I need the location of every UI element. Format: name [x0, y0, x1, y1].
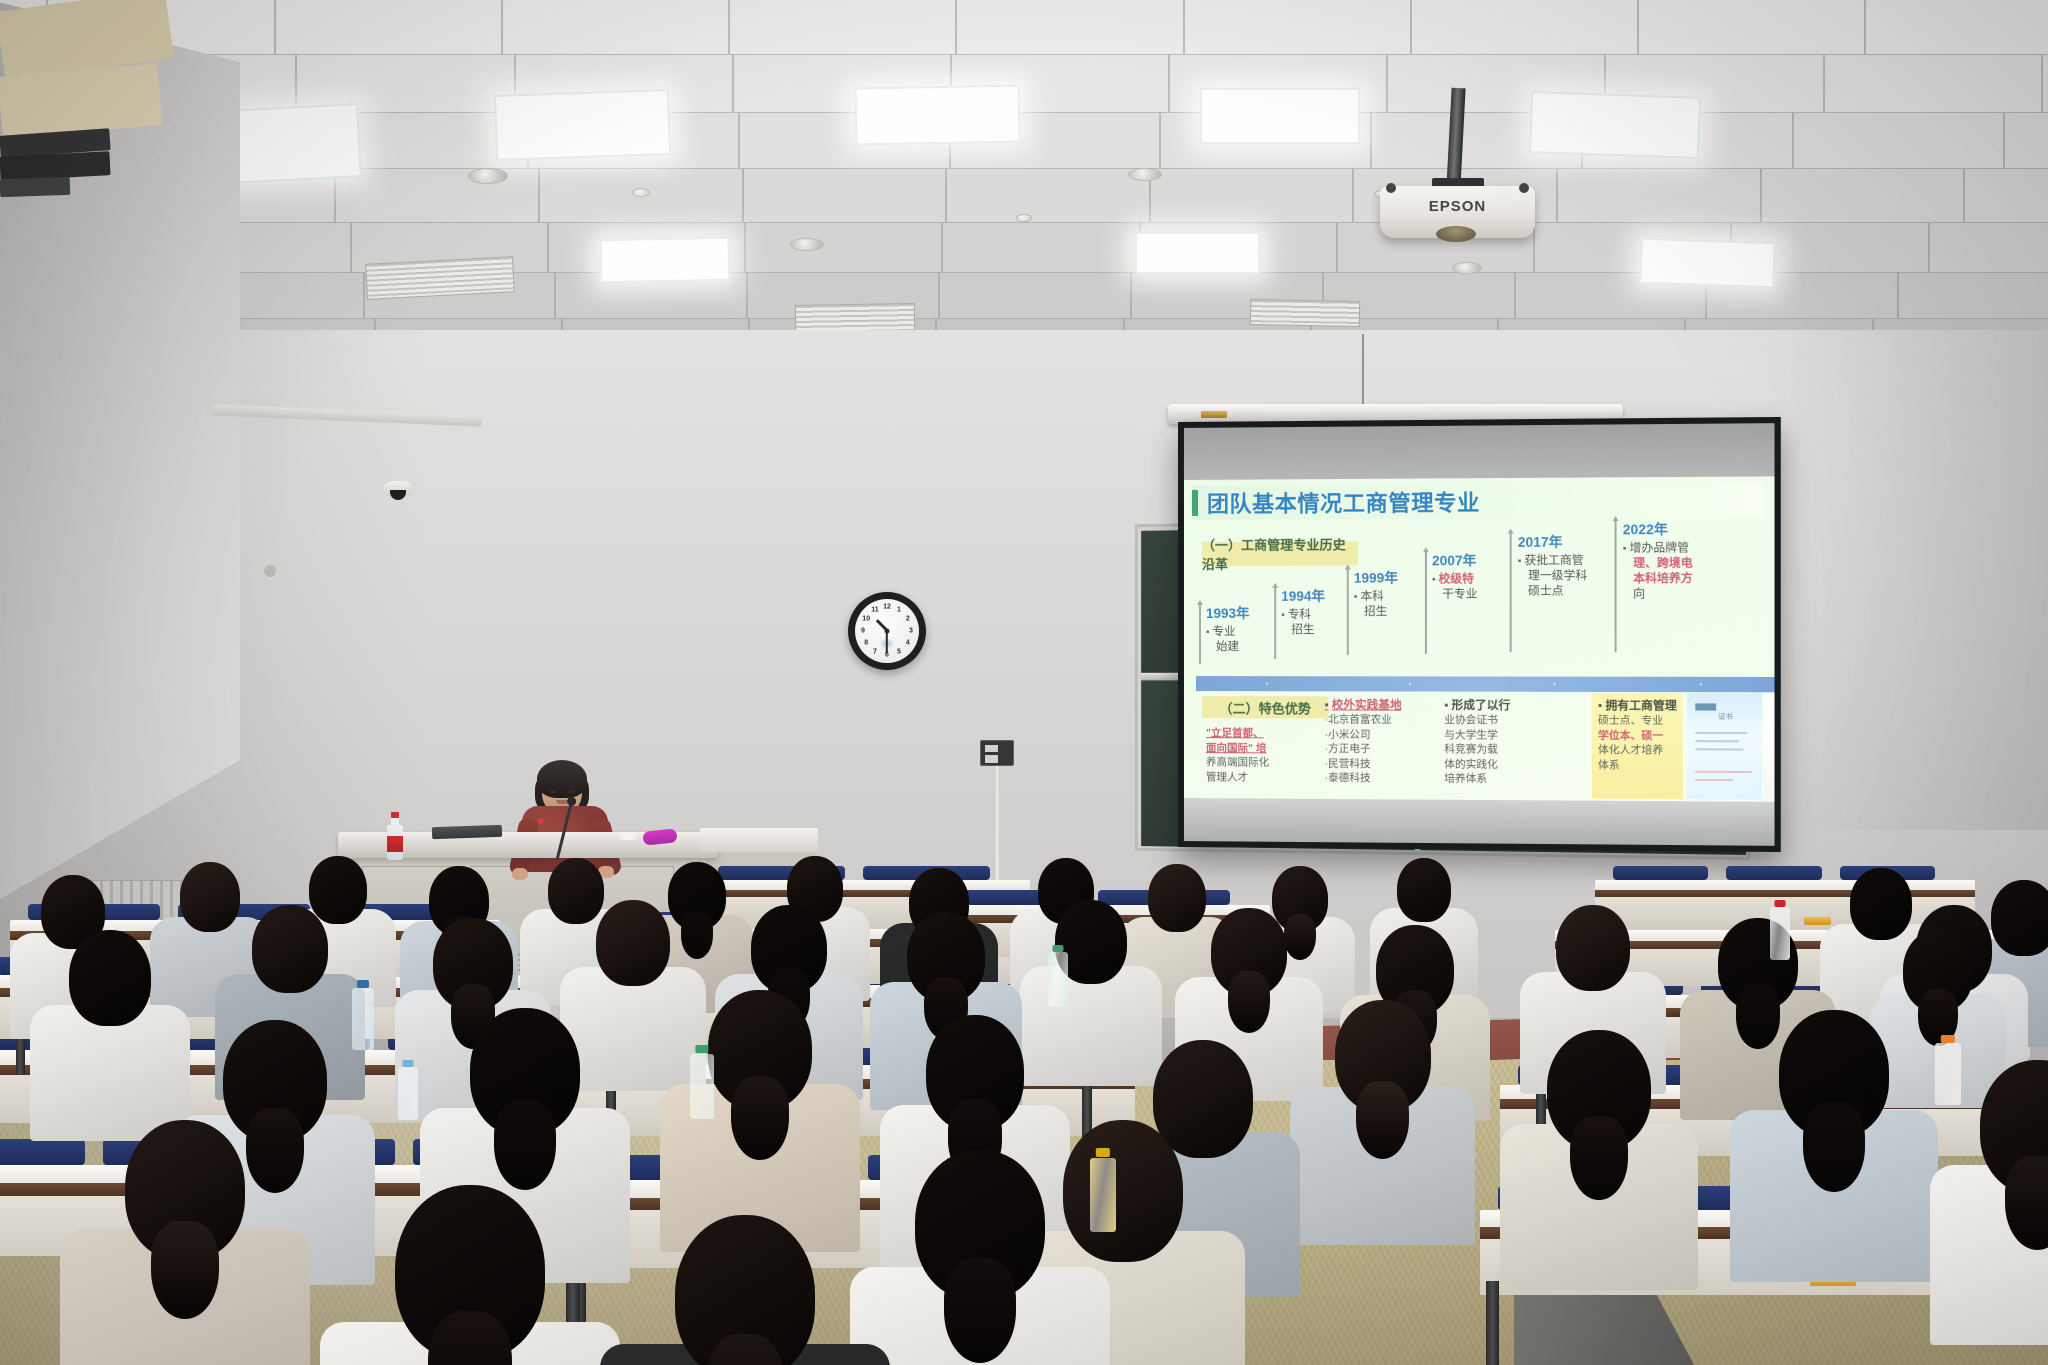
timeline-line: 本科培养方 — [1623, 572, 1693, 587]
bottle-cap — [403, 1060, 414, 1067]
student-head — [69, 930, 151, 1026]
list-item — [1930, 1060, 2048, 1365]
timeline-line: 始建 — [1206, 640, 1250, 655]
advantage-column-4: 拥有工商管理 硕士点、专业 学位本、硕一 体化人才培养 体系 — [1598, 697, 1677, 773]
ceiling-speaker — [790, 238, 824, 251]
student-ponytail — [1228, 971, 1271, 1033]
ceiling-tile — [1761, 168, 1965, 224]
slide-section-2-tag: （二）特色优势 — [1202, 696, 1329, 718]
column-heading: 校外实践基地 — [1325, 696, 1402, 712]
desk-paper — [0, 177, 70, 197]
clock-numeral: 12 — [883, 604, 891, 611]
ceiling-tile — [275, 0, 502, 56]
ceiling-projector: EPSON — [1380, 186, 1535, 238]
student-ponytail — [494, 1100, 556, 1190]
timeline-line: 专科 — [1281, 608, 1325, 623]
timeline-item-2017: 2017年 获批工商管 理一级学科 硕士点 — [1518, 530, 1587, 599]
timeline-line: 向 — [1623, 587, 1693, 602]
ceiling-tile — [1865, 0, 2048, 56]
ceiling-tile — [1638, 0, 1865, 56]
column-line: 与大学生学 — [1444, 727, 1510, 742]
ceiling-tile — [729, 0, 956, 56]
ceiling-light-panel — [1135, 232, 1260, 274]
clock-numeral: 8 — [864, 640, 868, 647]
bottle-body — [398, 1067, 418, 1120]
column-line: ·北京首富农业 — [1325, 712, 1402, 727]
timeline-line: 招生 — [1354, 605, 1398, 620]
list-item — [320, 1185, 620, 1365]
timeline-year: 2017年 — [1518, 530, 1587, 551]
divider-mark: • — [1265, 679, 1268, 688]
slide-section-1-tag: （一）工商管理专业历史沿革 — [1202, 541, 1358, 566]
timeline-year: 2022年 — [1623, 518, 1693, 539]
column-line: 体化人才培养 — [1598, 743, 1677, 758]
ceiling-air-vent — [1250, 299, 1360, 327]
timeline-item-2007: 2007年 校级特 干专业 — [1432, 549, 1477, 603]
timeline-line: 招生 — [1281, 623, 1325, 638]
timeline-line: 增办品牌管 — [1623, 541, 1693, 557]
bottle-cap — [695, 1045, 708, 1053]
timeline-line: 专业 — [1206, 625, 1250, 640]
column-line: 养高端国际化 — [1206, 755, 1269, 770]
bottle-body — [1048, 952, 1068, 1007]
list-item — [600, 1215, 890, 1365]
list-item — [1290, 1000, 1475, 1270]
clock-numeral: 7 — [873, 648, 877, 655]
dark-object-on-podium — [432, 825, 502, 839]
clock-face: 121234567891011 — [855, 599, 919, 663]
timeline-item-1999: 1999年 本科 招生 — [1354, 566, 1398, 619]
wall-clock: 121234567891011 — [848, 592, 926, 670]
divider-mark: • — [1699, 680, 1702, 689]
ceiling-speaker — [1452, 262, 1482, 274]
column-line: 业协会证书 — [1444, 713, 1510, 728]
water-bottle — [690, 1045, 714, 1119]
column-line: ·民营科技 — [1325, 756, 1402, 771]
ceiling-tile — [2042, 54, 2048, 114]
ceiling-light-panel — [855, 85, 1021, 146]
wall-sensor-icon — [264, 565, 276, 577]
bottle-body — [1770, 907, 1790, 960]
wall-shadow-right — [1788, 330, 2048, 830]
timeline-year: 1994年 — [1281, 585, 1325, 605]
column-line: ·泰德科技 — [1325, 771, 1402, 786]
clock-numeral: 3 — [909, 628, 913, 635]
column-line: 体系 — [1598, 757, 1677, 772]
student-ponytail — [1356, 1081, 1410, 1159]
clock-numeral: 11 — [871, 607, 878, 614]
column-line: 硕士点、专业 — [1598, 713, 1677, 728]
water-bottle — [1770, 900, 1790, 960]
column-line: 体的实践化 — [1444, 757, 1510, 772]
student-ponytail — [151, 1221, 218, 1319]
student-ponytail — [1570, 1116, 1628, 1200]
student-head — [252, 905, 328, 993]
ceiling-tile — [939, 272, 1131, 320]
ceiling-tile — [1964, 168, 2048, 224]
timeline-line: 干专业 — [1432, 587, 1477, 602]
ceiling-air-vent — [795, 303, 915, 333]
bottle-body — [352, 988, 374, 1050]
ceiling-speaker — [1128, 168, 1162, 181]
ceiling-tile — [1824, 54, 2042, 114]
timeline-line: 理一级学科 — [1518, 569, 1587, 584]
clock-numeral: 4 — [906, 640, 910, 647]
bottle-body — [690, 1054, 714, 1119]
ceiling-tile — [502, 0, 729, 56]
list-item — [60, 1120, 310, 1365]
timeline-line: 获批工商管 — [1518, 554, 1587, 569]
white-object-on-podium — [620, 832, 636, 840]
ceiling-tile — [1184, 0, 1411, 56]
slide-title-accent-bar — [1192, 490, 1198, 516]
timeline-item-2022: 2022年 增办品牌管 理、跨境电 本科培养方 向 — [1623, 518, 1693, 603]
lecture-hall-photo: 团队基本情况工商管理专业 （一）工商管理专业历史沿革 1993年 专业 始建 1… — [0, 0, 2048, 1365]
list-item — [1730, 1010, 1938, 1310]
timeline-line: 硕士点 — [1518, 584, 1587, 599]
clock-numeral: 1 — [897, 607, 901, 614]
bottle-body — [1935, 1043, 1961, 1105]
roller-brand-badge — [1201, 411, 1227, 418]
column-line: 面向国际" 培 — [1206, 741, 1269, 756]
desk-leg — [1486, 1281, 1499, 1365]
ceiling-tile — [942, 222, 1139, 274]
screen-cord-upper — [1362, 334, 1364, 406]
timeline-item-1993: 1993年 专业 始建 — [1206, 602, 1250, 655]
red-label-water-bottle — [387, 812, 403, 860]
clock-numeral: 10 — [862, 616, 870, 623]
timeline-line: 本科 — [1354, 590, 1398, 605]
ceiling-tile — [1411, 0, 1638, 56]
wall-outlet-panel — [980, 740, 1014, 766]
certificate-thumbnail-blue: 证书 — [1687, 693, 1762, 800]
student-ponytail — [944, 1258, 1017, 1363]
ceiling-tile — [745, 222, 942, 274]
student-ponytail — [1803, 1102, 1865, 1192]
water-bottle — [398, 1060, 418, 1120]
ceiling-tile — [956, 0, 1183, 56]
advantage-column-2: 校外实践基地 ·北京首富农业 ·小米公司 ·方正电子 ·民营科技 ·泰德科技 — [1325, 696, 1402, 785]
ceiling-speaker — [468, 168, 508, 184]
smoke-detector — [1016, 214, 1032, 222]
column-line: "立足首都、 — [1206, 726, 1269, 741]
ceiling-tile — [743, 168, 947, 224]
ceiling-tile — [1929, 222, 2048, 274]
timeline-line: 理、跨境电 — [1623, 556, 1693, 571]
ceiling-tile — [946, 168, 1150, 224]
certificate-thumbnail-white: 证 书 — [1764, 693, 1774, 800]
seat-back — [1613, 866, 1708, 880]
column-line: 培养体系 — [1444, 771, 1510, 786]
timeline-item-1994: 1994年 专科 招生 — [1281, 585, 1325, 638]
divider-mark: • — [1408, 679, 1411, 688]
timeline-year: 1999年 — [1354, 566, 1398, 586]
ceiling-light-panel — [1529, 91, 1701, 159]
column-line: 科竞赛为载 — [1444, 742, 1510, 757]
column-heading: 形成了以行 — [1444, 697, 1510, 713]
ceiling-tile — [1898, 272, 2048, 320]
student-ponytail — [731, 1076, 789, 1160]
bottle-cap — [1941, 1035, 1955, 1043]
list-item — [1500, 1030, 1698, 1316]
column-line: 管理人才 — [1206, 770, 1269, 785]
water-bottle — [1048, 945, 1068, 1007]
advantage-column-1: "立足首都、 面向国际" 培 养高端国际化 管理人才 — [1206, 726, 1269, 784]
seat-back — [1726, 866, 1821, 880]
projector-brand-label: EPSON — [1380, 198, 1535, 215]
column-line: 学位本、硕一 — [1598, 728, 1677, 743]
slide-title: 团队基本情况工商管理专业 — [1207, 485, 1480, 519]
clock-numeral: 9 — [861, 628, 865, 635]
side-cabinet-surface — [700, 828, 818, 852]
timeline-year: 1993年 — [1206, 602, 1250, 622]
bottle-cap — [1053, 945, 1064, 952]
column-line: ·小米公司 — [1325, 727, 1402, 742]
student-head — [596, 900, 670, 986]
ceiling-light-panel — [1200, 88, 1360, 144]
water-bottle — [352, 980, 374, 1050]
clock-numeral: 5 — [897, 648, 901, 655]
student-head — [1556, 905, 1630, 991]
screen-surface: 团队基本情况工商管理专业 （一）工商管理专业历史沿革 1993年 专业 始建 1… — [1184, 423, 1775, 846]
ceiling-tile — [335, 168, 539, 224]
lecturer-badge — [538, 818, 544, 824]
presentation-slide: 团队基本情况工商管理专业 （一）工商管理专业历史沿革 1993年 专业 始建 1… — [1184, 476, 1775, 801]
slide-divider-bar: • • • • — [1196, 676, 1775, 692]
column-heading: 拥有工商管理 — [1598, 697, 1677, 714]
ceiling-light-panel — [600, 237, 731, 283]
projector-lens — [1436, 226, 1476, 242]
column-line: ·方正电子 — [1325, 742, 1402, 757]
timeline-line: 校级特 — [1432, 572, 1477, 587]
ceiling-tile — [1150, 168, 1354, 224]
ceiling-light-panel — [494, 89, 671, 161]
ceiling-light-panel — [1639, 238, 1776, 289]
timeline-year: 2007年 — [1432, 549, 1477, 569]
slide-title-row: 团队基本情况工商管理专业 — [1192, 483, 1764, 520]
ceiling-tile — [2004, 112, 2048, 170]
divider-mark: • — [1553, 680, 1556, 689]
smoke-detector — [632, 188, 650, 197]
bottle-cap — [357, 980, 369, 988]
water-bottle — [1935, 1035, 1961, 1105]
projection-screen: 团队基本情况工商管理专业 （一）工商管理专业历史沿革 1993年 专业 始建 1… — [1178, 417, 1781, 852]
clock-hand — [886, 631, 888, 653]
ceiling-tile — [1557, 168, 1761, 224]
student-head — [1397, 858, 1451, 922]
lecturer-hair — [537, 760, 587, 798]
bottle-cap — [1775, 900, 1786, 907]
ceiling-tile — [1793, 112, 2004, 170]
clock-numeral: 2 — [906, 616, 910, 623]
dome-security-camera — [383, 481, 413, 496]
advantage-column-3: 形成了以行 业协会证书 与大学生学 科竞赛为载 体的实践化 培养体系 — [1444, 697, 1510, 787]
